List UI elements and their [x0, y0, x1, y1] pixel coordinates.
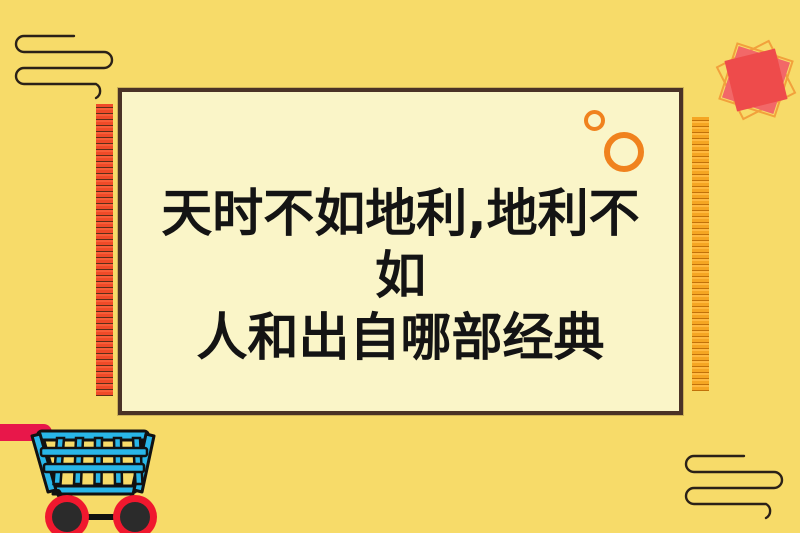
content-card: 天时不如地利,地利不如 人和出自哪部经典 [118, 88, 683, 415]
striped-bar-left [96, 104, 113, 396]
page-title: 天时不如地利,地利不如 人和出自哪部经典 [122, 184, 679, 370]
serpentine-line-icon [8, 28, 120, 100]
ring-decoration-group [577, 110, 657, 190]
large-ring-icon [604, 132, 644, 172]
shopping-cart-icon [0, 412, 194, 533]
small-ring-icon [584, 110, 605, 131]
serpentine-line-icon-secondary [678, 448, 790, 520]
striped-bar-right [692, 117, 709, 391]
star-burst-icon [714, 38, 798, 122]
poster-canvas: 天时不如地利,地利不如 人和出自哪部经典 [0, 0, 800, 533]
